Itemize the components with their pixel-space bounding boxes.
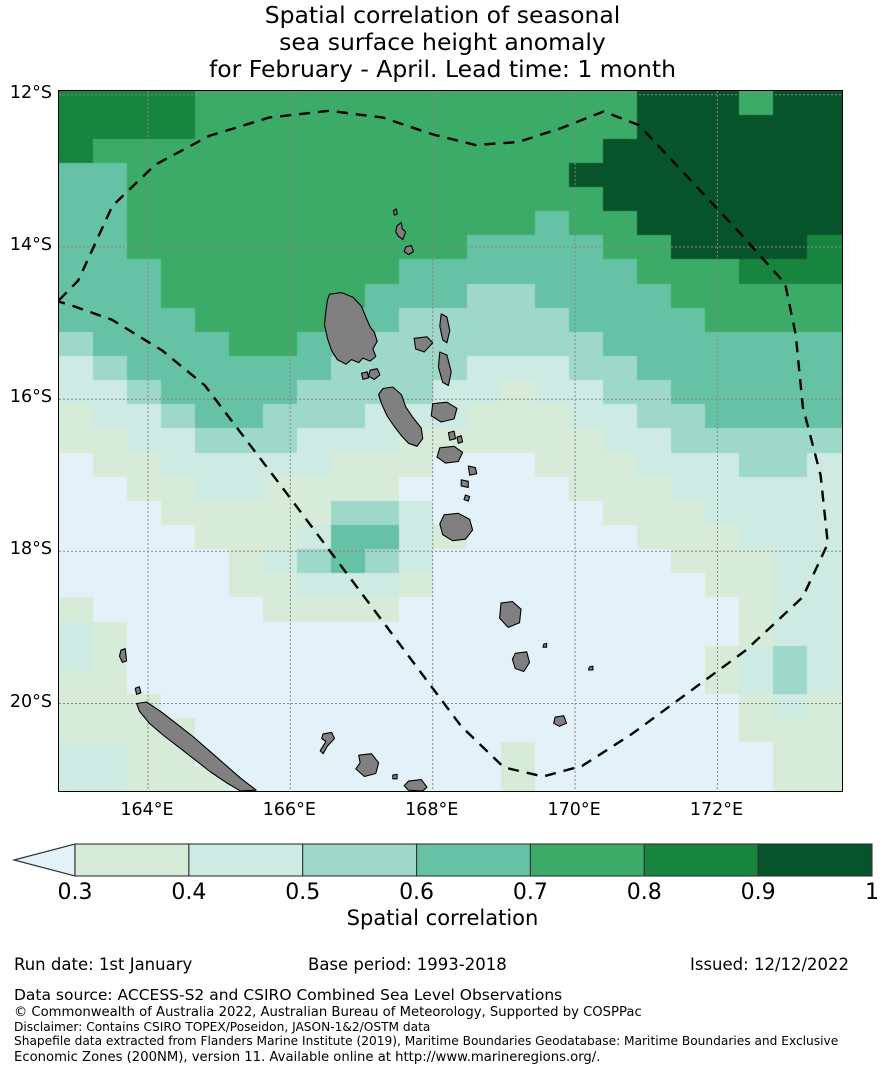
y-tick-16°S: 16°S (6, 389, 52, 407)
x-tick-172°E: 172°E (666, 802, 766, 820)
shapefile-note-line-1: Shapefile data extracted from Flanders M… (14, 1034, 885, 1049)
colorbar-tick-0.8: 0.8 (594, 882, 694, 904)
run-date-label: Run date: 1st January (14, 955, 192, 975)
footnotes: Data source: ACCESS-S2 and CSIRO Combine… (14, 986, 885, 1066)
colorbar-tick-0.9: 0.9 (708, 882, 808, 904)
data-source-note: Data source: ACCESS-S2 and CSIRO Combine… (14, 986, 885, 1005)
map-gridlines (59, 91, 842, 791)
colorbar-tick-0.7: 0.7 (480, 882, 580, 904)
x-axis-labels: 164°E166°E168°E170°E172°E (0, 802, 885, 826)
x-tick-168°E: 168°E (382, 802, 482, 820)
y-tick-20°S: 20°S (6, 694, 52, 712)
correlation-map[interactable] (58, 90, 843, 792)
metadata-row: Run date: 1st January Base period: 1993-… (0, 955, 885, 979)
colorbar-swatches (0, 840, 885, 884)
eez-boundary-line (59, 111, 828, 777)
base-period-label: Base period: 1993-2018 (308, 955, 507, 975)
copyright-note: © Commonwealth of Australia 2022, Austra… (14, 1005, 885, 1020)
disclaimer-note: Disclaimer: Contains CSIRO TOPEX/Poseido… (14, 1020, 885, 1034)
colorbar-tick-0.6: 0.6 (367, 882, 467, 904)
colorbar-tick-0.5: 0.5 (253, 882, 353, 904)
colorbar-title: Spatial correlation (0, 906, 885, 930)
shapefile-note-line-2: Economic Zones (200NM), version 11. Avai… (14, 1049, 885, 1066)
colorbar-tick-0.4: 0.4 (139, 882, 239, 904)
y-tick-12°S: 12°S (6, 85, 52, 103)
colorbar-tick-1: 1 (822, 882, 885, 904)
y-tick-18°S: 18°S (6, 541, 52, 559)
x-tick-170°E: 170°E (524, 802, 624, 820)
title-line-2: sea surface height anomaly (0, 29, 885, 56)
map-overlay-layer (59, 91, 842, 791)
chart-title: Spatial correlation of seasonal sea surf… (0, 2, 885, 83)
title-line-3: for February - April. Lead time: 1 month (0, 56, 885, 83)
x-tick-164°E: 164°E (97, 802, 197, 820)
x-tick-166°E: 166°E (239, 802, 339, 820)
colorbar[interactable]: Spatial correlation 0.30.40.50.60.70.80.… (0, 840, 885, 940)
y-tick-14°S: 14°S (6, 237, 52, 255)
colorbar-tick-0.3: 0.3 (25, 882, 125, 904)
title-line-1: Spatial correlation of seasonal (0, 2, 885, 29)
issued-date-label: Issued: 12/12/2022 (690, 955, 849, 975)
